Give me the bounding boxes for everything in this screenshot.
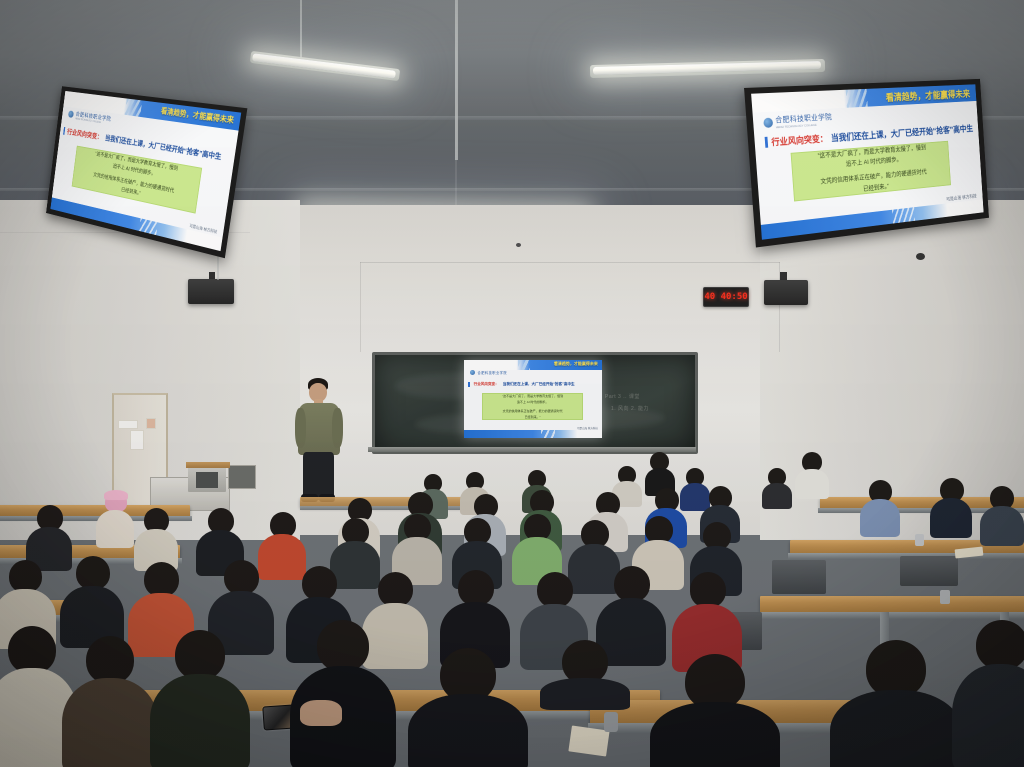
student [980,486,1024,544]
quote-line: 已经到来。” [521,414,545,420]
metal-cup[interactable] [915,534,924,546]
student-hand [300,700,342,726]
desk-frame [758,612,1024,619]
banner-stripes [518,360,530,370]
metal-cup[interactable] [604,712,618,732]
presenter-pants [303,452,334,500]
right-projection-screen: 看清趋势，才能赢得未来 合肥科技职业学院 HEFEI TECHNOLOGY CO… [744,79,989,248]
seat-back [772,560,826,594]
lecture-hall-photo: 40 40:50 看清趋势，才能赢得未来 合肥科技职业学院 HEFEI TECH… [0,0,1024,767]
banner-stripes [892,208,914,224]
quote-line: 追不上 AI 时代的脚步。 [513,399,553,405]
ceiling-seam [640,0,641,120]
college-logo-name: 合肥科技职业学院 [478,370,508,375]
lectern-top [186,462,230,468]
quote-line: 已经到来。” [859,181,892,195]
metal-cup[interactable] [940,590,950,604]
slide-quote-box: “这不是大厂疯了，而是大学教育太慢了，慢到 追不上 AI 时代的脚步。 文凭的信… [482,393,583,421]
student [540,640,630,706]
college-logo-icon [68,110,74,118]
banner-stripes [541,430,555,438]
presenter-arm-right [332,408,343,448]
wall-speaker-left [188,279,234,304]
door-notice [146,418,156,429]
headline-accent-bar [468,382,470,387]
led-clock-value: 40 40:50 [704,293,747,302]
student [290,620,396,767]
slide-bottom-banner [464,430,602,438]
student [150,630,250,767]
student [408,648,528,767]
banner-stripes [125,99,143,118]
student [830,640,962,767]
light-hanger [300,0,302,58]
speaker-mount [209,272,215,279]
wall-speaker-right [764,280,808,305]
slide-banner-title: 看清趋势，才能赢得未来 [554,361,598,367]
equipment-box [228,465,256,489]
presenter [292,378,352,502]
wall-panel-seam [360,262,780,263]
ceiling-camera [516,243,521,247]
slide-headline-rest: 当我们还在上课，大厂已经开始“抢客”高中生 [831,122,974,144]
ceiling-camera [916,253,925,260]
slide-headline-rest: 当我们还在上课，大厂已经开始“抢客”高中生 [503,382,575,387]
led-clock-display: 40 40:50 [703,287,749,307]
college-logo-icon [470,370,475,375]
student [795,452,829,498]
slide-quote-box: “这不是大厂疯了，而是大学教育太慢了，慢到 追不上 AI 时代的脚步。 文凭的信… [791,141,952,202]
slide-headline-label: 行业风向突变： [67,127,103,142]
door-notice [130,430,144,450]
headline-accent-bar [63,127,65,135]
presenter-arm-left [295,408,306,448]
board-chalk-text: 1. 风向 2. 能力 [611,405,649,412]
center-projection-on-whiteboard: 看清趋势，才能赢得未来 合肥科技职业学院 行业风向突变： 当我们还在上课，大厂已… [464,360,602,438]
lectern-panel [196,472,218,488]
student [762,468,792,508]
headline-accent-bar [764,136,768,147]
pink-cap [104,490,128,500]
student [134,508,178,568]
slide-headline-label: 行业风向突变： [474,382,499,387]
banner-stripes [846,89,868,108]
college-logo-icon [763,117,773,127]
slide-headline-label: 行业风向突变： [771,131,828,148]
wall-panel-seam [360,262,361,352]
door-notice [118,420,138,429]
seat-back [900,556,958,586]
desk-row [760,596,1024,613]
student [650,654,780,767]
light-hanger [455,0,458,160]
student [930,478,972,536]
student [952,620,1024,767]
right-screen-slide: 看清趋势，才能赢得未来 合肥科技职业学院 HEFEI TECHNOLOGY CO… [751,84,983,239]
speaker-mount [780,272,787,280]
student [860,480,900,536]
board-chalk-text: Part 3 .. 课堂 [605,393,640,400]
slide-footer-signature: 可是山海 林方科技 [577,426,598,430]
student [96,492,134,546]
student [62,636,158,767]
